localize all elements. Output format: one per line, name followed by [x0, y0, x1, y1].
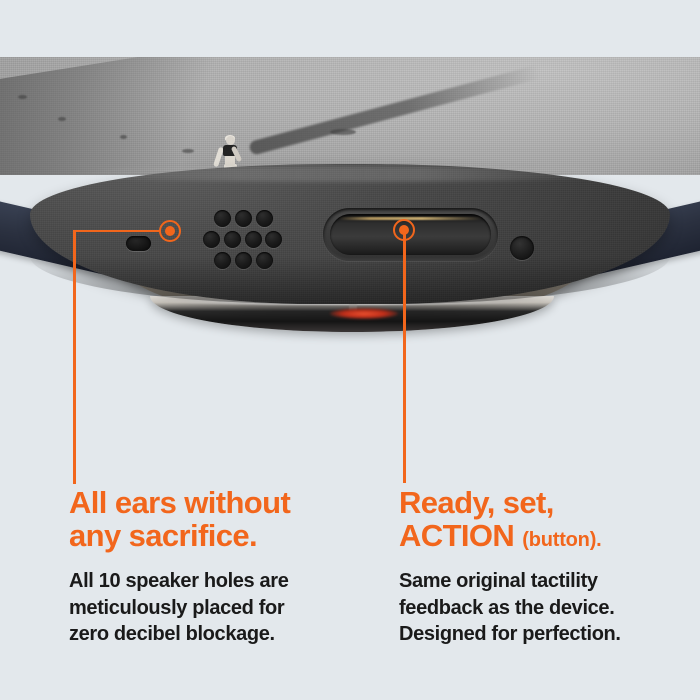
body-line: Same original tactility [399, 568, 679, 594]
strap-hole-right [662, 302, 700, 340]
headline-line: Ready, set, [399, 485, 554, 520]
body-line: Designed for perfection. [399, 621, 679, 647]
sand-fleck-icon [120, 135, 127, 139]
callout-action-headline: Ready, set,ACTION (button). [399, 486, 679, 552]
speaker-hole [235, 210, 252, 227]
speaker-grille [203, 210, 281, 272]
speaker-hole [265, 231, 282, 248]
callouts-region: All ears withoutany sacrifice. All 10 sp… [0, 486, 700, 700]
callout-speaker-headline: All ears withoutany sacrifice. [69, 486, 369, 552]
speaker-hole [235, 252, 252, 269]
strap-hole-left [0, 302, 38, 340]
speaker-hole [203, 231, 220, 248]
case-top-sheen [62, 166, 638, 182]
callout-connector-left-vertical [73, 230, 76, 484]
sand-fleck-icon [330, 129, 356, 135]
heart-rate-sensor-glow-icon [330, 308, 398, 319]
callout-connector-left-horizontal [73, 230, 161, 233]
callout-connector-right-vertical [403, 230, 406, 483]
speaker-hole [214, 210, 231, 227]
action-button-marker-icon [393, 219, 415, 241]
body-line: meticulously placed for [69, 595, 369, 621]
callout-speaker-body: All 10 speaker holes are meticulously pl… [69, 568, 369, 647]
speaker-hole [245, 231, 262, 248]
side-port [510, 236, 534, 260]
speaker-hole [256, 210, 273, 227]
callout-action-body: Same original tactility feedback as the … [399, 568, 679, 647]
speaker-hole [214, 252, 231, 269]
runner-head [226, 136, 235, 145]
headline-line: any sacrifice. [69, 518, 257, 553]
callout-action-button: Ready, set,ACTION (button). Same origina… [399, 486, 679, 647]
headline-suffix: (button). [522, 529, 601, 551]
sand-fleck-icon [18, 95, 27, 99]
headline-line: All ears without [69, 485, 290, 520]
action-button-gold-accent [339, 217, 482, 220]
sand-fleck-icon [58, 117, 66, 121]
speaker-hole [224, 231, 241, 248]
headline-line: ACTION [399, 518, 514, 553]
callout-speaker: All ears withoutany sacrifice. All 10 sp… [69, 486, 369, 647]
speaker-hole [256, 252, 273, 269]
marketing-image-stage: All ears withoutany sacrifice. All 10 sp… [0, 0, 700, 700]
speaker-marker-icon [159, 220, 181, 242]
body-line: feedback as the device. [399, 595, 679, 621]
case-bottom-shading [30, 256, 670, 304]
microphone-port [126, 236, 151, 251]
body-line: All 10 speaker holes are [69, 568, 369, 594]
body-line: zero decibel blockage. [69, 621, 369, 647]
